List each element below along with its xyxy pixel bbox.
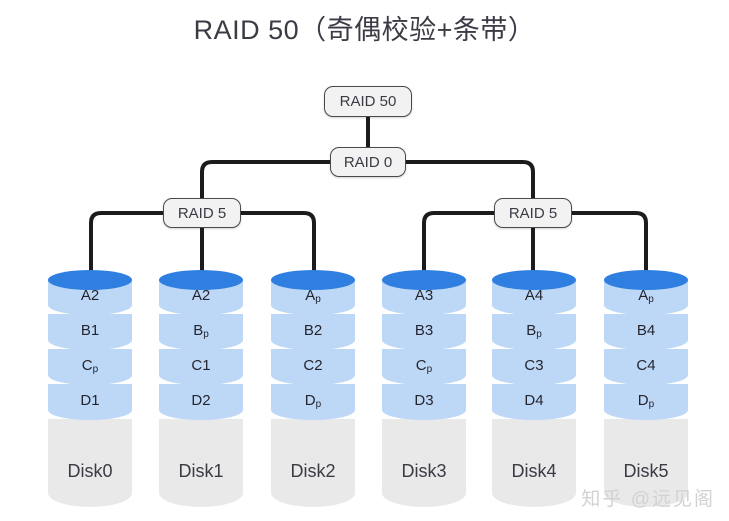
- stripe-letter: B: [637, 322, 647, 339]
- stripe-block-label: D1: [80, 393, 99, 408]
- disk-stripe-block: C1: [159, 349, 243, 385]
- wire-raid0-to-raid5-left: [202, 162, 330, 198]
- disk-stripe-block: D1: [48, 384, 132, 420]
- stripe-block-label: B2: [304, 323, 322, 338]
- stripe-index: p: [536, 329, 542, 340]
- disk-label: Disk4: [511, 461, 556, 482]
- stripe-index: p: [649, 399, 655, 410]
- stripe-index: 4: [647, 322, 655, 339]
- disk-stripe-block: Bp: [159, 314, 243, 350]
- disk-stripe-block: C3: [492, 349, 576, 385]
- stripe-letter: C: [191, 357, 202, 374]
- stripe-index: 1: [91, 392, 99, 409]
- stripe-letter: C: [636, 357, 647, 374]
- stripe-letter: C: [524, 357, 535, 374]
- disk-top-platter: [492, 270, 576, 290]
- stripe-letter: B: [193, 322, 203, 339]
- disk-top-platter: [382, 270, 466, 290]
- disk-body: Disk4: [492, 419, 576, 507]
- disk-body: Disk3: [382, 419, 466, 507]
- stripe-block-label: D4: [524, 393, 543, 408]
- disk-stripe-block: C4: [604, 349, 688, 385]
- stripe-index: 3: [425, 322, 433, 339]
- disk-stripe-block: C2: [271, 349, 355, 385]
- stripe-index: 4: [647, 357, 655, 374]
- node-raid-50-label: RAID 50: [340, 93, 397, 110]
- stripe-letter: C: [82, 357, 93, 374]
- stripe-index: 1: [91, 322, 99, 339]
- stripe-block-label: C1: [191, 358, 210, 373]
- disk-stripe-block: B1: [48, 314, 132, 350]
- stripe-block-label: C3: [524, 358, 543, 373]
- stripe-letter: D: [191, 392, 202, 409]
- stripe-block-label: Bp: [193, 323, 209, 338]
- stripe-letter: D: [524, 392, 535, 409]
- disk-stripe-block: B3: [382, 314, 466, 350]
- disk-top-platter: [604, 270, 688, 290]
- stripe-block-label: Dp: [305, 393, 321, 408]
- stripe-index: 4: [535, 392, 543, 409]
- stripe-index: p: [316, 399, 322, 410]
- node-raid-5-left-label: RAID 5: [178, 205, 226, 222]
- watermark: 知乎 @远见阁: [581, 484, 715, 511]
- stripe-block-label: D3: [414, 393, 433, 408]
- stripe-block-label: D2: [191, 393, 210, 408]
- stripe-block-label: C4: [636, 358, 655, 373]
- stripe-letter: B: [81, 322, 91, 339]
- node-raid-0-label: RAID 0: [344, 154, 392, 171]
- stripe-letter: D: [305, 392, 316, 409]
- stripe-block-label: B1: [81, 323, 99, 338]
- stripe-letter: B: [415, 322, 425, 339]
- node-raid-50[interactable]: RAID 50: [324, 86, 412, 117]
- disk-stripe-block: B4: [604, 314, 688, 350]
- stripe-letter: C: [303, 357, 314, 374]
- disk-stripe-block: D4: [492, 384, 576, 420]
- stripe-letter: D: [80, 392, 91, 409]
- disk-stripe-block: Dp: [271, 384, 355, 420]
- stripe-index: 3: [425, 392, 433, 409]
- disk-top-platter: [48, 270, 132, 290]
- stripe-block-label: C2: [303, 358, 322, 373]
- disk-stripe-block: D3: [382, 384, 466, 420]
- stripe-index: p: [315, 294, 321, 305]
- disk-stripe-block: D2: [159, 384, 243, 420]
- stripe-block-label: Dp: [638, 393, 654, 408]
- node-raid-0[interactable]: RAID 0: [330, 147, 406, 177]
- node-raid-5-left[interactable]: RAID 5: [163, 198, 241, 228]
- stripe-letter: D: [414, 392, 425, 409]
- raid50-diagram: RAID 50（奇偶校验+条带） RAID 50 RAID 0 RAID 5 R…: [0, 0, 729, 521]
- disk-top-platter: [159, 270, 243, 290]
- stripe-letter: B: [304, 322, 314, 339]
- disk-stripe-block: Dp: [604, 384, 688, 420]
- stripe-letter: B: [526, 322, 536, 339]
- disk-stripe-block: B2: [271, 314, 355, 350]
- stripe-index: p: [93, 364, 99, 375]
- disk-body: Disk0: [48, 419, 132, 507]
- stripe-index: 3: [535, 357, 543, 374]
- stripe-block-label: B4: [637, 323, 655, 338]
- stripe-block-label: B3: [415, 323, 433, 338]
- disk-label: Disk5: [623, 461, 668, 482]
- node-raid-5-right-label: RAID 5: [509, 205, 557, 222]
- disk-body: Disk1: [159, 419, 243, 507]
- disk-top-platter: [271, 270, 355, 290]
- stripe-block-label: Cp: [82, 358, 98, 373]
- stripe-index: 1: [202, 357, 210, 374]
- wire-raid0-to-raid5-right: [406, 162, 533, 198]
- disk-body: Disk2: [271, 419, 355, 507]
- stripe-letter: D: [638, 392, 649, 409]
- disk-label: Disk1: [178, 461, 223, 482]
- disk-stripe-block: Cp: [382, 349, 466, 385]
- stripe-index: p: [203, 329, 209, 340]
- stripe-index: 2: [314, 357, 322, 374]
- disk-label: Disk0: [67, 461, 112, 482]
- stripe-index: p: [648, 294, 654, 305]
- stripe-index: p: [427, 364, 433, 375]
- stripe-block-label: Bp: [526, 323, 542, 338]
- stripe-block-label: Cp: [416, 358, 432, 373]
- disk-stripe-block: Cp: [48, 349, 132, 385]
- stripe-index: 2: [202, 392, 210, 409]
- disk-label: Disk3: [401, 461, 446, 482]
- disk-stripe-block: Bp: [492, 314, 576, 350]
- stripe-letter: C: [416, 357, 427, 374]
- node-raid-5-right[interactable]: RAID 5: [494, 198, 572, 228]
- disk-label: Disk2: [290, 461, 335, 482]
- stripe-index: 2: [314, 322, 322, 339]
